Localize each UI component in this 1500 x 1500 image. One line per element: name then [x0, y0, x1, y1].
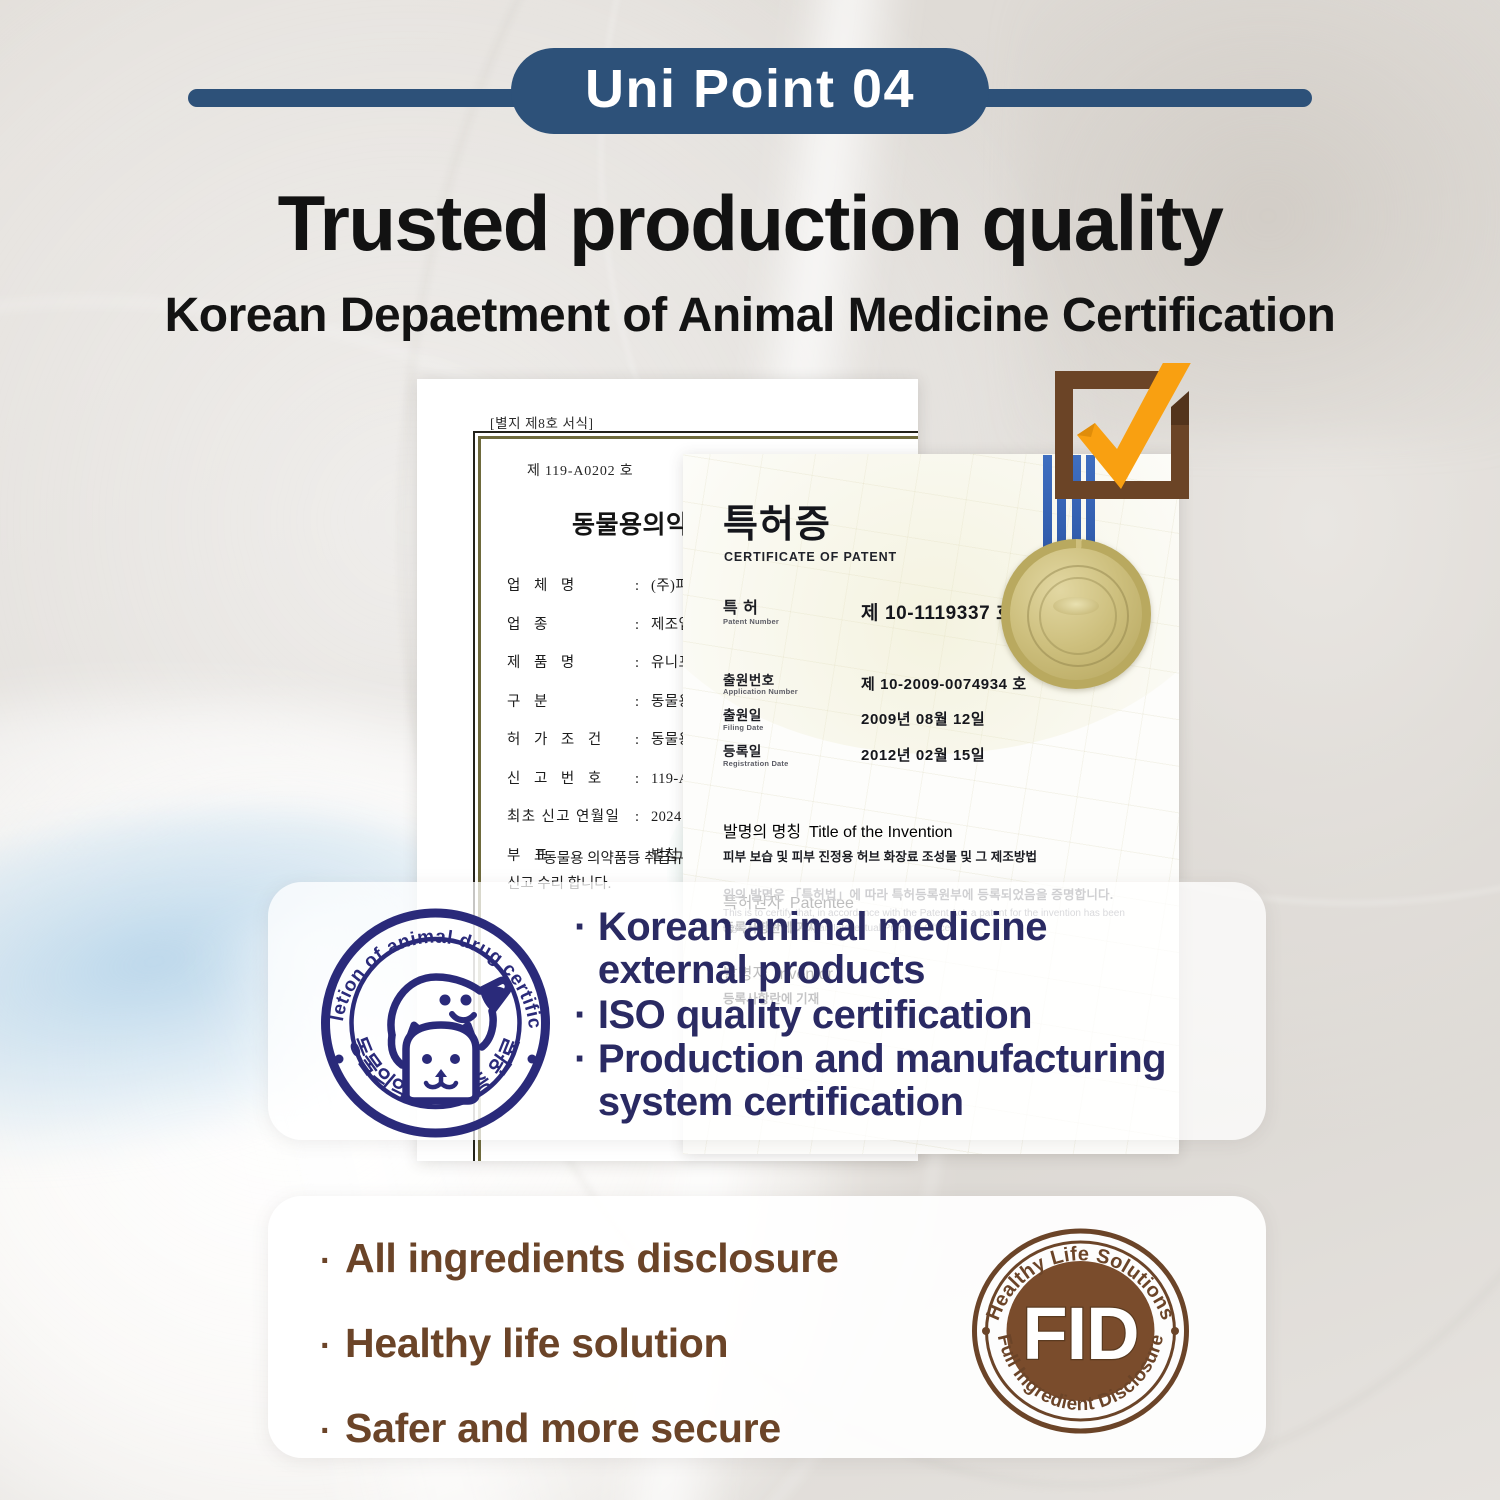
bullet-text: ISO quality certification — [598, 994, 1032, 1037]
cert-field-label: 최초 신고 연월일 — [507, 805, 635, 826]
patent-row-value: 2012년 02월 15일 — [861, 744, 985, 765]
cert-field-colon: : — [635, 617, 651, 634]
list-item: · ISO quality certification — [574, 994, 1234, 1037]
checkmark-box-icon — [1043, 363, 1199, 513]
list-item: · All ingredients disclosure — [320, 1238, 920, 1298]
bullet-text: Korean animal medicine external products — [598, 906, 1047, 992]
list-item: · Korean animal medicine external produc… — [574, 906, 1234, 992]
patent-row-spacer — [723, 696, 1153, 708]
header-badge: Uni Point 04 — [511, 48, 989, 134]
patent-row-spacer — [723, 732, 1153, 744]
bullet-text: Safer and more secure — [345, 1408, 781, 1449]
cert-field-colon: : — [635, 771, 651, 788]
header-rule-left — [188, 89, 548, 107]
patent-row-filing-date: 출원일 Filing Date 2009년 08월 12일 — [723, 708, 1153, 732]
animal-drug-certification-badge-icon: Completion of animal drug certification … — [314, 899, 557, 1138]
bullet-text: All ingredients disclosure — [345, 1238, 838, 1279]
cert-field-label: 업 종 — [507, 613, 635, 634]
patent-row-value: 제 10-1119337 호 — [861, 598, 1014, 625]
cert-field-label: 제 품 명 — [507, 651, 635, 672]
cert-field-colon: : — [635, 578, 651, 595]
cert-bracket-note: [별지 제8호 서식] — [490, 412, 594, 432]
list-item: · Safer and more secure — [320, 1408, 920, 1468]
cert-doc-number: 제 119-A0202 호 — [527, 460, 633, 480]
top-card-bullet-list: · Korean animal medicine external produc… — [574, 906, 1234, 1126]
patent-invention-value: 피부 보습 및 피부 진정용 허브 화장료 조성물 및 그 제조방법 — [723, 846, 1153, 865]
patent-title-en: CERTIFICATE OF PATENT — [724, 550, 897, 564]
header-rule-right — [952, 89, 1312, 107]
patent-invention-label-ko: 발명의 명칭 — [723, 818, 801, 842]
cert-field-colon: : — [635, 732, 651, 749]
bullet-dot-icon: · — [574, 906, 587, 949]
svg-text:FID: FID — [1022, 1292, 1138, 1375]
page-title: Trusted production quality — [0, 184, 1500, 262]
list-item: · Production and manufacturing system ce… — [574, 1038, 1234, 1124]
list-item: · Healthy life solution — [320, 1323, 920, 1383]
bullet-dot-icon: · — [320, 1244, 331, 1278]
bullet-dot-icon: · — [574, 1038, 587, 1081]
bullet-dot-icon: · — [574, 994, 587, 1037]
patent-invention-block: 발명의 명칭 Title of the Invention 피부 보습 및 피부… — [723, 818, 1153, 865]
bullet-text: Production and manufacturing system cert… — [598, 1038, 1166, 1124]
bottom-card-bullet-list: · All ingredients disclosure · Healthy l… — [320, 1238, 920, 1493]
page-subtitle: Korean Depaetment of Animal Medicine Cer… — [0, 292, 1500, 340]
bullet-dot-icon: · — [320, 1329, 331, 1363]
promo-page: Uni Point 04 Trusted production quality … — [0, 0, 1500, 1500]
cert-field-colon: : — [635, 809, 651, 826]
bullet-dot-icon: · — [320, 1414, 331, 1448]
patent-title-ko: 특허증 — [723, 506, 831, 544]
patent-invention-label-en: Title of the Invention — [809, 824, 953, 842]
patent-invention-labels: 발명의 명칭 Title of the Invention — [723, 818, 1153, 842]
cert-field-colon: : — [635, 655, 651, 672]
patent-row-spacer — [723, 768, 1153, 814]
cert-field-label: 허 가 조 건 — [507, 728, 635, 749]
cert-field-colon: : — [635, 694, 651, 711]
patent-row-registration-date: 등록일 Registration Date 2012년 02월 15일 — [723, 744, 1153, 768]
patent-row-value: 2009년 08월 12일 — [861, 708, 985, 729]
cert-field-label: 구 분 — [507, 690, 635, 711]
fid-badge-icon: Healthy Life Solutions Full Ingredient D… — [968, 1225, 1193, 1437]
cert-field-label: 신 고 번 호 — [507, 767, 635, 788]
bullet-text: Healthy life solution — [345, 1323, 728, 1364]
gold-seal-icon — [1001, 539, 1151, 689]
cert-field-label: 업 체 명 — [507, 574, 635, 595]
